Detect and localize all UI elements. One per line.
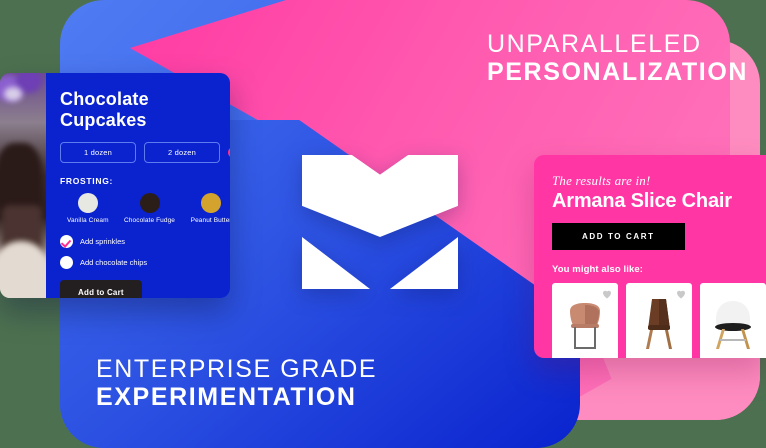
hero-composition: UNPARALLELED PERSONALIZATION ENTERPRISE … [0,0,766,448]
envelope-flap-shape [302,155,458,237]
tan-armchair-illustration [552,291,618,357]
size-option-1-dozen[interactable]: 1 dozen [60,142,136,163]
chair-product-title: Armana Slice Chair [552,190,766,213]
cupcake-add-to-cart-button[interactable]: Add to Cart [60,280,142,298]
chair-card-eyebrow: The results are in! [552,173,766,189]
frosting-option-chocolate-fudge[interactable]: Chocolate Fudge [122,193,178,224]
cupcake-size-options: 1 dozen 2 dozen + [60,142,230,163]
product-thumb-brown-chair[interactable] [626,283,692,358]
recommendations-label: You might also like: [552,264,766,275]
envelope-left-wing-shape [302,237,370,289]
product-thumb-white-shell-chair[interactable] [700,283,766,358]
option-row-add-chocolate-chips[interactable]: Add chocolate chips [60,256,230,269]
recommended-products-list [552,283,766,358]
checkbox-add-chocolate-chips[interactable] [60,256,73,269]
option-row-add-sprinkles[interactable]: Add sprinkles [60,235,230,248]
envelope-icon [302,155,458,289]
frosting-option-vanilla-cream[interactable]: Vanilla Cream [60,193,116,224]
chair-add-to-cart-button[interactable]: ADD TO CART [552,223,685,250]
size-option-2-dozen[interactable]: 2 dozen [144,142,220,163]
frosting-label: FROSTING: [60,176,230,186]
frosting-swatch-peanut-butter [201,193,221,213]
cupcake-card-body: Chocolate Cupcakes 1 dozen 2 dozen + FRO… [46,73,230,298]
frosting-name-peanut-butter: Peanut Butter [183,217,230,224]
label-add-chocolate-chips: Add chocolate chips [80,258,147,267]
headline-experimentation: ENTERPRISE GRADE EXPERIMENTATION [96,355,377,411]
frosting-option-peanut-butter[interactable]: Peanut Butter [183,193,230,224]
cupcake-product-card: Chocolate Cupcakes 1 dozen 2 dozen + FRO… [0,73,230,298]
brown-chair-illustration [626,291,692,357]
cupcake-product-title: Chocolate Cupcakes [60,89,230,130]
chair-results-card: The results are in! Armana Slice Chair A… [534,155,766,358]
frosting-name-chocolate-fudge: Chocolate Fudge [122,217,178,224]
frosting-swatch-vanilla-cream [78,193,98,213]
headline-left-line2: EXPERIMENTATION [96,383,377,411]
checkbox-add-sprinkles[interactable] [60,235,73,248]
headline-personalization: UNPARALLELED PERSONALIZATION [487,30,748,86]
label-add-sprinkles: Add sprinkles [80,237,125,246]
white-shell-chair-illustration [700,291,766,357]
headline-left-line1: ENTERPRISE GRADE [96,355,377,383]
headline-right-line1: UNPARALLELED [487,30,748,58]
envelope-right-wing-shape [390,237,458,289]
product-thumb-tan-armchair[interactable] [552,283,618,358]
headline-right-line2: PERSONALIZATION [487,58,748,86]
cupcake-title-line1: Chocolate [60,89,149,109]
cupcake-title-line2: Cupcakes [60,110,147,130]
frosting-name-vanilla-cream: Vanilla Cream [60,217,116,224]
frosting-swatch-chocolate-fudge [140,193,160,213]
frosting-swatch-group: Vanilla Cream Chocolate Fudge Peanut But… [60,193,230,224]
cupcake-photo [0,73,46,298]
add-size-plus-icon[interactable]: + [228,147,230,158]
